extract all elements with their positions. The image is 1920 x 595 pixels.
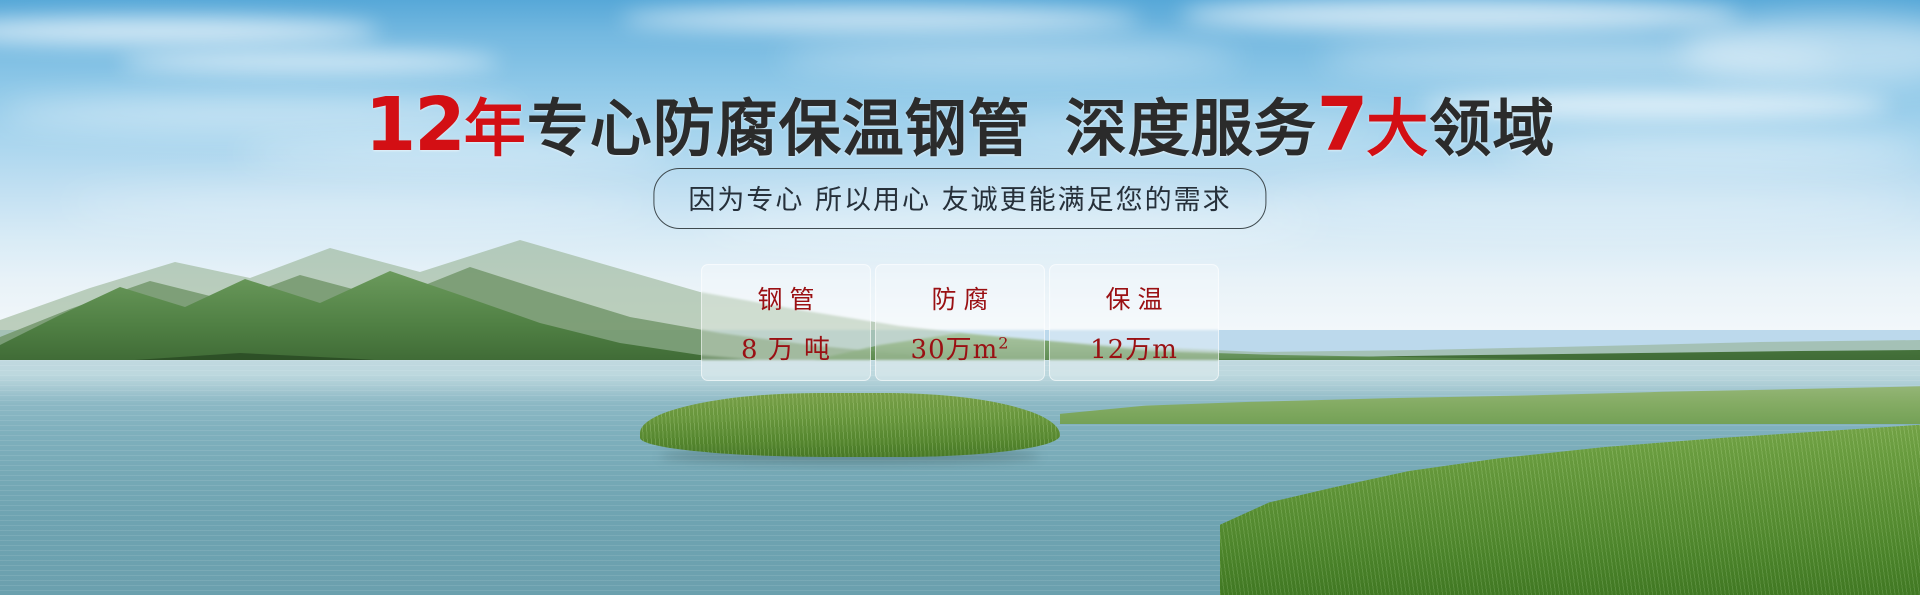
stat-value-main: 30万m	[911, 335, 999, 365]
stat-card-anticorrosion[interactable]: 防腐 30万m2	[875, 264, 1045, 381]
headline-fields-number: 7	[1317, 82, 1367, 168]
headline-years-unit: 年	[464, 92, 527, 165]
stat-cards: 钢管 8 万 吨 防腐 30万m2 保温 12万m	[701, 264, 1219, 381]
banner-content: 12年专心防腐保温钢管深度服务7大领域 因为专心 所以用心 友诚更能满足您的需求…	[0, 0, 1920, 595]
headline-service-text: 深度服务	[1065, 92, 1317, 165]
stat-value-main: 8 万 吨	[741, 335, 831, 365]
headline-main-text: 专心防腐保温钢管	[527, 92, 1031, 165]
stat-card-value: 8 万 吨	[741, 329, 831, 366]
stat-card-value: 12万m	[1090, 329, 1178, 366]
stat-card-title: 钢管	[750, 280, 821, 316]
stat-card-insulation[interactable]: 保温 12万m	[1049, 264, 1219, 381]
subtitle-pill: 因为专心 所以用心 友诚更能满足您的需求	[653, 168, 1266, 229]
headline-fields-label: 领域	[1429, 92, 1555, 165]
headline: 12年专心防腐保温钢管深度服务7大领域	[0, 88, 1920, 162]
headline-years-number: 12	[365, 82, 464, 168]
hero-banner: 12年专心防腐保温钢管深度服务7大领域 因为专心 所以用心 友诚更能满足您的需求…	[0, 0, 1920, 595]
stat-card-title: 防腐	[924, 280, 995, 316]
stat-value-superscript: 2	[998, 333, 1009, 352]
stat-card-steel-pipe[interactable]: 钢管 8 万 吨	[701, 264, 871, 381]
stat-card-title: 保温	[1098, 280, 1169, 316]
stat-value-main: 12万m	[1090, 335, 1178, 365]
headline-fields-unit: 大	[1366, 92, 1429, 165]
stat-card-value: 30万m2	[911, 329, 1010, 366]
